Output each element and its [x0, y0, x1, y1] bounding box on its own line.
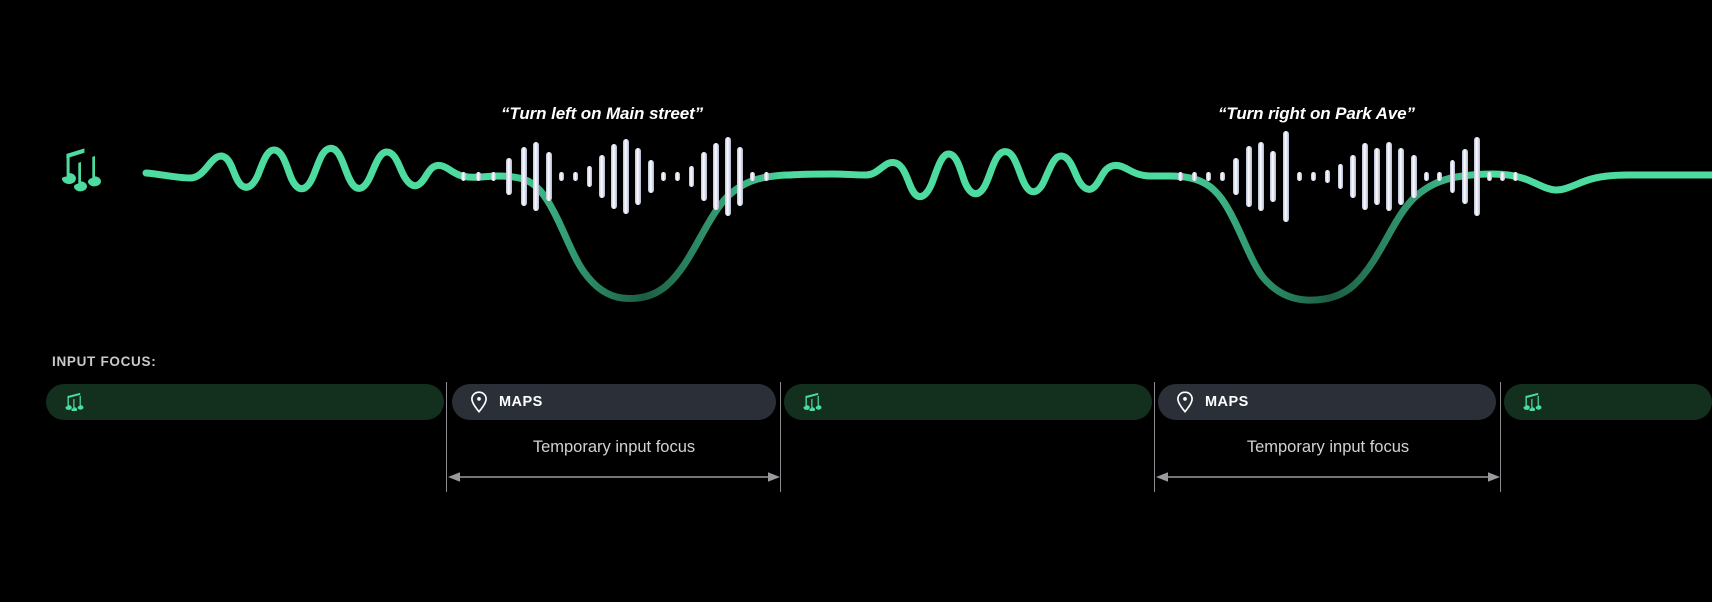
waveform-canvas — [0, 0, 1712, 330]
map-pin-icon — [1176, 391, 1194, 413]
temporary-focus-span-2: Temporary input focus — [1155, 438, 1501, 486]
focus-segment-audio-1[interactable] — [46, 384, 444, 420]
focus-segment-maps-1[interactable]: MAPS — [452, 384, 776, 420]
music-notes-icon — [62, 148, 101, 191]
speech-label-1: “Turn left on Main street” — [501, 104, 703, 124]
double-arrow-icon — [447, 468, 781, 486]
temporary-focus-span-1: Temporary input focus — [447, 438, 781, 486]
music-wave-ducked-2 — [1170, 174, 1492, 300]
focus-segment-audio-2[interactable] — [784, 384, 1152, 420]
temporary-focus-label: Temporary input focus — [1155, 438, 1501, 457]
focus-segment-maps-2[interactable]: MAPS — [1158, 384, 1496, 420]
focus-segment-label: MAPS — [1205, 394, 1249, 410]
temporary-focus-label: Temporary input focus — [447, 438, 781, 457]
music-notes-icon — [1522, 393, 1544, 411]
music-wave-active-1 — [146, 148, 498, 188]
map-pin-icon — [470, 391, 488, 413]
music-wave-ducked-1 — [498, 175, 790, 299]
focus-segment-label: MAPS — [499, 394, 543, 410]
music-notes-icon — [64, 393, 86, 411]
signal-area: “Turn left on Main street” “Turn right o… — [0, 0, 1712, 330]
focus-segment-audio-3[interactable] — [1504, 384, 1712, 420]
audio-focus-diagram: “Turn left on Main street” “Turn right o… — [0, 0, 1712, 602]
music-notes-icon — [802, 393, 824, 411]
music-wave-active-2 — [790, 152, 1170, 197]
speech-label-2: “Turn right on Park Ave” — [1218, 104, 1415, 124]
double-arrow-icon — [1155, 468, 1501, 486]
input-focus-title: INPUT FOCUS: — [52, 354, 156, 369]
music-wave-active-3 — [1492, 174, 1712, 190]
input-focus-track: INPUT FOCUS: — [0, 330, 1712, 602]
